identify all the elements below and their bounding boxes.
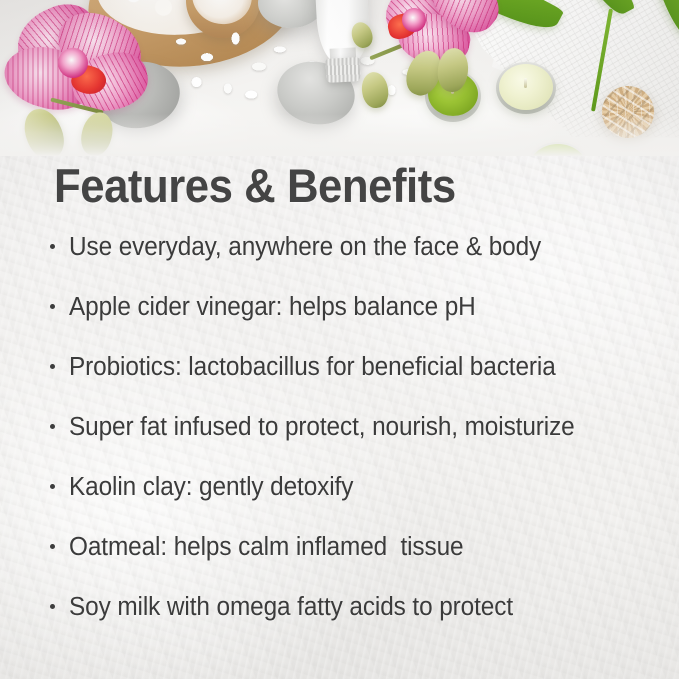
list-item-label: Oatmeal: helps calm inflamed tissue	[69, 533, 464, 562]
bullet-dot-icon	[50, 604, 55, 609]
bullet-dot-icon	[50, 424, 55, 429]
orchid-center	[402, 8, 426, 32]
candle-wick-cream	[524, 78, 527, 88]
rattan-ball-weave	[602, 86, 654, 138]
list-item: Probiotics: lactobacillus for beneficial…	[50, 353, 650, 413]
features-list: Use everyday, anywhere on the face & bod…	[50, 233, 650, 653]
list-item-label: Kaolin clay: gently detoxify	[69, 473, 353, 502]
cosmetic-bottle-cap	[325, 57, 360, 83]
list-item: Soy milk with omega fatty acids to prote…	[50, 593, 650, 653]
list-item-label: Probiotics: lactobacillus for beneficial…	[69, 353, 556, 382]
bullet-dot-icon	[50, 244, 55, 249]
list-item-label: Soy milk with omega fatty acids to prote…	[69, 593, 513, 622]
list-item: Super fat infused to protect, nourish, m…	[50, 413, 650, 473]
bullet-dot-icon	[50, 544, 55, 549]
list-item-label: Apple cider vinegar: helps balance pH	[69, 293, 476, 322]
page-title: Features & Benefits	[54, 158, 456, 213]
list-item: Apple cider vinegar: helps balance pH	[50, 293, 650, 353]
orchid-center	[58, 48, 88, 78]
list-item-label: Use everyday, anywhere on the face & bod…	[69, 233, 541, 262]
bullet-dot-icon	[50, 364, 55, 369]
hero-photo	[0, 0, 679, 156]
product-feature-card: Features & Benefits Use everyday, anywhe…	[0, 0, 679, 679]
list-item: Oatmeal: helps calm inflamed tissue	[50, 533, 650, 593]
bullet-dot-icon	[50, 304, 55, 309]
bullet-dot-icon	[50, 484, 55, 489]
list-item: Use everyday, anywhere on the face & bod…	[50, 233, 650, 293]
list-item: Kaolin clay: gently detoxify	[50, 473, 650, 533]
list-item-label: Super fat infused to protect, nourish, m…	[69, 413, 575, 442]
